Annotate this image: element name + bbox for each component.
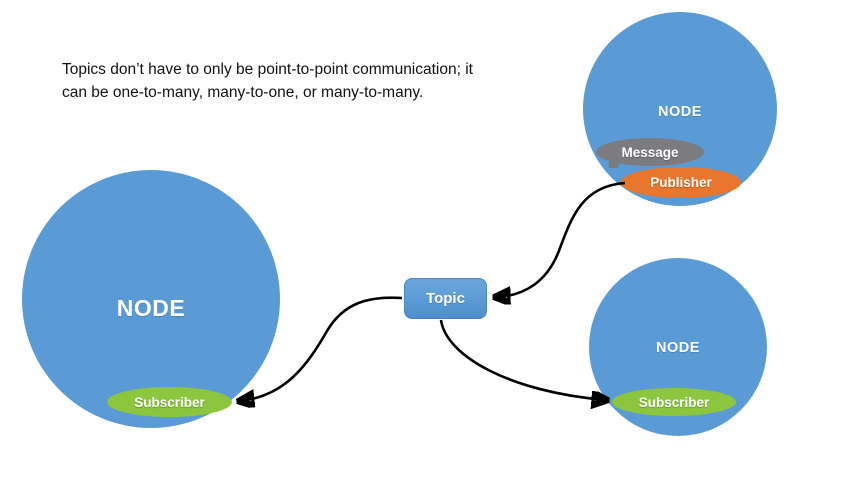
message-oval[interactable]: Message bbox=[596, 138, 704, 166]
arrow-topic-to-subscriber-bottom-right bbox=[441, 320, 606, 400]
caption-text: Topics don’t have to only be point-to-po… bbox=[62, 58, 482, 105]
arrow-publisher-to-topic bbox=[496, 183, 625, 297]
diagram-canvas: Topics don’t have to only be point-to-po… bbox=[0, 0, 854, 480]
topic-box[interactable]: Topic bbox=[404, 278, 487, 319]
publisher-oval[interactable]: Publisher bbox=[621, 167, 741, 198]
node-top-right-label: NODE bbox=[583, 104, 777, 120]
node-left-label: NODE bbox=[22, 295, 280, 322]
subscriber-oval-left[interactable]: Subscriber bbox=[107, 387, 232, 417]
subscriber-oval-bottom-right[interactable]: Subscriber bbox=[612, 388, 736, 416]
node-bottom-right-label: NODE bbox=[589, 340, 767, 356]
